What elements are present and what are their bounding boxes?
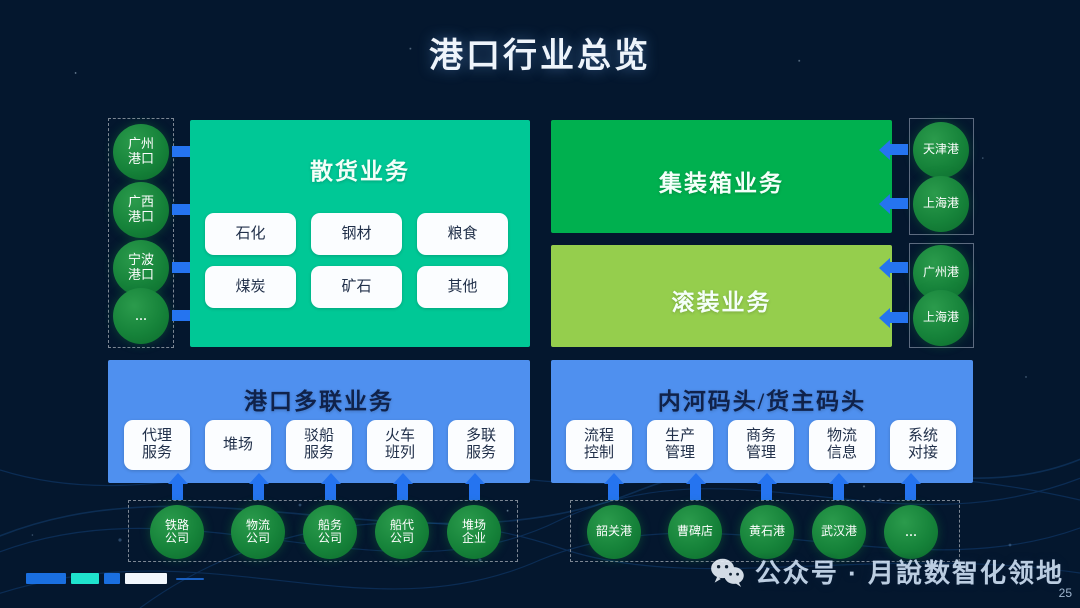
arrow-multimodal-partner-4 (469, 484, 480, 500)
arrow-roro-port-1 (890, 312, 908, 323)
bulk-chip-3[interactable]: 煤炭 (205, 266, 296, 308)
progress-segment-1[interactable] (26, 573, 66, 584)
partner-line1: 物流 (246, 519, 270, 532)
bulk-chip-2[interactable]: 粮食 (417, 213, 508, 255)
chip-line1: 驳船 (304, 428, 334, 445)
container-port-circle-1[interactable]: 上海港 (913, 176, 969, 232)
chip-line1: 石化 (235, 226, 265, 243)
terminal-chip-2[interactable]: 商务 管理 (728, 420, 794, 470)
watermark-text: 公众号 · 月說数智化领地 (755, 553, 1064, 590)
multimodal-chip-3[interactable]: 火车 班列 (367, 420, 433, 470)
partner-line1: 铁路 (165, 519, 189, 532)
multimodal-chip-1[interactable]: 堆场 (205, 420, 271, 470)
partner-line2: 企业 (462, 532, 486, 545)
partner-line1: 船代 (390, 519, 414, 532)
chip-line2: 信息 (827, 445, 857, 462)
terminal-partner-circle-2[interactable]: 黄石港 (740, 505, 794, 559)
arrow-multimodal-partner-2 (325, 484, 336, 500)
container-business-panel[interactable]: 集装箱业务 (551, 120, 892, 233)
arrow-left-port-2 (172, 262, 190, 273)
left-port-line2: 港口 (128, 210, 154, 225)
terminal-chip-4[interactable]: 系统 对接 (890, 420, 956, 470)
arrow-left-port-3 (172, 310, 190, 321)
chip-line1: 矿石 (341, 279, 371, 296)
multimodal-partner-circle-1[interactable]: 物流 公司 (231, 505, 285, 559)
multimodal-partner-circle-3[interactable]: 船代 公司 (375, 505, 429, 559)
chip-line2: 服务 (142, 445, 172, 462)
chip-line1: 钢材 (341, 226, 371, 243)
chip-line1: 生产 (665, 428, 695, 445)
progress-segment-5 (176, 578, 204, 580)
partner-line2: 公司 (165, 532, 189, 545)
multimodal-partner-circle-2[interactable]: 船务 公司 (303, 505, 357, 559)
bulk-chip-5[interactable]: 其他 (417, 266, 508, 308)
chip-line1: 代理 (142, 428, 172, 445)
chip-line1: 多联 (466, 428, 496, 445)
page-title: 港口行业总览 (0, 28, 1080, 77)
chip-line1: 堆场 (223, 437, 253, 454)
watermark: 公众号 · 月說数智化领地 (709, 553, 1064, 590)
left-port-line1: 广西 (128, 195, 154, 210)
partner-line2: 公司 (318, 532, 342, 545)
chip-line2: 管理 (746, 445, 776, 462)
left-port-line1: 广州 (128, 137, 154, 152)
arrow-roro-port-0 (890, 262, 908, 273)
roro-port-circle-1[interactable]: 上海港 (913, 290, 969, 346)
container-port-circle-0[interactable]: 天津港 (913, 122, 969, 178)
terminal-partner-circle-3[interactable]: 武汉港 (812, 505, 866, 559)
arrow-multimodal-partner-0 (172, 484, 183, 500)
progress-segment-3[interactable] (104, 573, 120, 584)
multimodal-chip-0[interactable]: 代理 服务 (124, 420, 190, 470)
arrow-left-port-1 (172, 204, 190, 215)
wechat-icon (709, 557, 745, 587)
chip-line2: 服务 (304, 445, 334, 462)
bulk-chip-1[interactable]: 钢材 (311, 213, 402, 255)
multimodal-partner-circle-4[interactable]: 堆场 企业 (447, 505, 501, 559)
left-port-circle-3[interactable]: ... (113, 288, 169, 344)
terminal-partner-circle-1[interactable]: 曹碑店 (668, 505, 722, 559)
port-line1: 广州港 (923, 266, 959, 279)
partner-line1: 曹碑店 (677, 525, 713, 538)
multimodal-business-title: 港口多联业务 (108, 382, 530, 416)
chip-line1: 其他 (447, 279, 477, 296)
arrow-multimodal-partner-1 (253, 484, 264, 500)
partner-line1: 堆场 (462, 519, 486, 532)
multimodal-partner-circle-0[interactable]: 铁路 公司 (150, 505, 204, 559)
partner-line2: 公司 (246, 532, 270, 545)
partner-line2: 公司 (390, 532, 414, 545)
chip-line1: 商务 (746, 428, 776, 445)
terminal-business-title: 内河码头/货主码头 (551, 382, 973, 416)
arrow-multimodal-partner-3 (397, 484, 408, 500)
page-number: 25 (1059, 586, 1072, 600)
chip-line2: 管理 (665, 445, 695, 462)
chip-line1: 流程 (584, 428, 614, 445)
arrow-terminal-partner-0 (608, 484, 619, 500)
progress-segment-2[interactable] (71, 573, 99, 584)
arrow-terminal-partner-4 (905, 484, 916, 500)
roro-business-panel[interactable]: 滚装业务 (551, 245, 892, 347)
chip-line1: 煤炭 (235, 279, 265, 296)
multimodal-chip-2[interactable]: 驳船 服务 (286, 420, 352, 470)
progress-segment-4[interactable] (125, 573, 167, 584)
roro-business-title: 滚装业务 (551, 283, 892, 317)
left-port-line2: 港口 (128, 152, 154, 167)
multimodal-chip-4[interactable]: 多联 服务 (448, 420, 514, 470)
chip-line1: 粮食 (447, 226, 477, 243)
arrow-container-port-0 (890, 144, 908, 155)
arrow-container-port-1 (890, 198, 908, 209)
arrow-left-port-0 (172, 146, 190, 157)
chip-line1: 火车 (385, 428, 415, 445)
arrow-terminal-partner-3 (833, 484, 844, 500)
terminal-chip-0[interactable]: 流程 控制 (566, 420, 632, 470)
terminal-chip-3[interactable]: 物流 信息 (809, 420, 875, 470)
container-business-title: 集装箱业务 (551, 164, 892, 198)
port-line1: 天津港 (923, 143, 959, 156)
bulk-chip-0[interactable]: 石化 (205, 213, 296, 255)
port-line1: 上海港 (923, 311, 959, 324)
chip-line2: 控制 (584, 445, 614, 462)
partner-line1: 船务 (318, 519, 342, 532)
left-port-line2: 港口 (128, 268, 154, 283)
partner-line1: 黄石港 (749, 525, 785, 538)
bulk-business-title: 散货业务 (190, 152, 530, 186)
left-port-line1: ... (135, 307, 147, 325)
partner-line1: 武汉港 (821, 525, 857, 538)
terminal-chip-1[interactable]: 生产 管理 (647, 420, 713, 470)
port-line1: 上海港 (923, 197, 959, 210)
arrow-terminal-partner-2 (761, 484, 772, 500)
left-port-line1: 宁波 (128, 253, 154, 268)
chip-line2: 服务 (466, 445, 496, 462)
chip-line2: 对接 (908, 445, 938, 462)
chip-line1: 物流 (827, 428, 857, 445)
chip-line2: 班列 (385, 445, 415, 462)
arrow-terminal-partner-1 (690, 484, 701, 500)
slide-progress-bar[interactable] (26, 573, 204, 584)
bulk-chip-4[interactable]: 矿石 (311, 266, 402, 308)
chip-line1: 系统 (908, 428, 938, 445)
left-port-circle-1[interactable]: 广西 港口 (113, 182, 169, 238)
terminal-partner-circle-0[interactable]: 韶关港 (587, 505, 641, 559)
terminal-partner-circle-4[interactable]: ... (884, 505, 938, 559)
left-port-circle-0[interactable]: 广州 港口 (113, 124, 169, 180)
partner-line1: 韶关港 (596, 525, 632, 538)
partner-line1: ... (905, 523, 917, 541)
